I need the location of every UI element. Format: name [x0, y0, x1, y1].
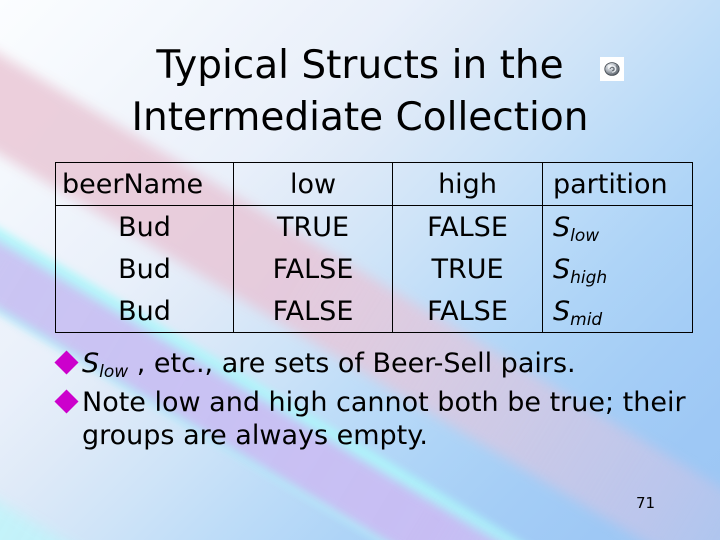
- cell-low: FALSE: [234, 248, 393, 290]
- bullet-body-text: , etc., are sets of Beer-Sell pairs.: [128, 348, 575, 379]
- bullet-list: Slow , etc., are sets of Beer-Sell pairs…: [58, 347, 698, 454]
- cell-beername: Bud: [56, 290, 234, 333]
- partition-subscript: mid: [570, 310, 602, 330]
- diamond-bullet-icon: [54, 350, 78, 374]
- slide-canvas: Typical Structs in the Intermediate Coll…: [0, 0, 720, 540]
- cell-partition: Slow: [543, 206, 693, 249]
- partition-symbol: S: [553, 254, 570, 285]
- bullet-text: Note low and high cannot both be true; t…: [82, 386, 698, 452]
- partition-subscript: high: [570, 268, 607, 288]
- bullet-symbol: S: [82, 348, 99, 379]
- cell-high: FALSE: [393, 206, 543, 249]
- table-row: Bud TRUE FALSE Slow: [56, 206, 693, 249]
- cell-low: FALSE: [234, 290, 393, 333]
- cell-high: FALSE: [393, 290, 543, 333]
- slide-title: Typical Structs in the Intermediate Coll…: [0, 40, 720, 144]
- table-header: beerName low high partition: [56, 163, 693, 206]
- table-body: Bud TRUE FALSE Slow Bud FALSE TRUE Shigh…: [56, 206, 693, 333]
- table-header-row: beerName low high partition: [56, 163, 693, 206]
- table-row: Bud FALSE TRUE Shigh: [56, 248, 693, 290]
- cell-partition: Smid: [543, 290, 693, 333]
- cell-beername: Bud: [56, 206, 234, 249]
- cell-high: TRUE: [393, 248, 543, 290]
- cell-partition: Shigh: [543, 248, 693, 290]
- column-header-beername: beerName: [56, 163, 234, 206]
- shell-icon: [600, 57, 624, 81]
- column-header-partition: partition: [543, 163, 693, 206]
- column-header-low: low: [234, 163, 393, 206]
- partition-symbol: S: [553, 296, 570, 327]
- cell-low: TRUE: [234, 206, 393, 249]
- partition-subscript: low: [570, 226, 599, 246]
- page-number: 71: [636, 494, 655, 512]
- diamond-bullet-icon: [54, 389, 78, 413]
- bullet-text: Slow , etc., are sets of Beer-Sell pairs…: [82, 347, 698, 384]
- cell-beername: Bud: [56, 248, 234, 290]
- partition-symbol: S: [553, 212, 570, 243]
- struct-table: beerName low high partition Bud TRUE FAL…: [55, 162, 693, 333]
- table-row: Bud FALSE FALSE Smid: [56, 290, 693, 333]
- bullet-item: Note low and high cannot both be true; t…: [58, 386, 698, 452]
- bullet-item: Slow , etc., are sets of Beer-Sell pairs…: [58, 347, 698, 384]
- bullet-symbol-subscript: low: [99, 362, 128, 382]
- column-header-high: high: [393, 163, 543, 206]
